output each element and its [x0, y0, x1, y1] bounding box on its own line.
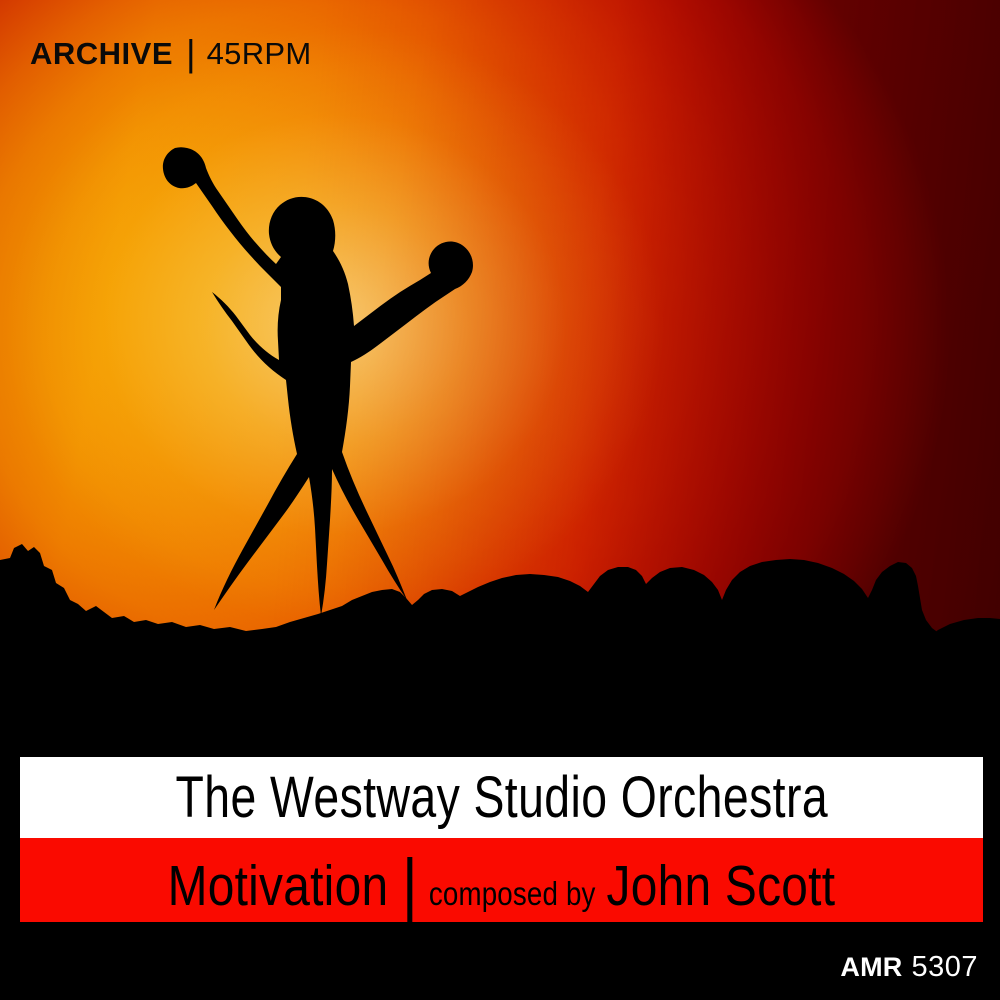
composer-name: John Scott — [607, 858, 836, 915]
track-line: Motivation | composed by John Scott — [168, 843, 836, 917]
album-cover: ARCHIVE | 45RPM The Westway Studio Orche… — [0, 0, 1000, 1000]
track-separator: | — [402, 849, 418, 923]
archive-label: ARCHIVE — [30, 38, 173, 69]
artist-name-bar: The Westway Studio Orchestra — [20, 757, 983, 838]
rpm-label: 45RPM — [207, 38, 312, 69]
track-title-bar: Motivation | composed by John Scott — [20, 838, 983, 922]
composed-by-label: composed by — [429, 877, 596, 910]
sunset-sky-gradient — [0, 0, 1000, 760]
catalog-digits: 5307 — [911, 953, 978, 982]
archive-header: ARCHIVE | 45RPM — [30, 33, 312, 70]
catalog-prefix: AMR — [840, 954, 902, 981]
catalog-number: AMR 5307 — [840, 953, 978, 982]
header-separator: | — [186, 35, 196, 72]
artist-name: The Westway Studio Orchestra — [175, 769, 827, 827]
track-title: Motivation — [168, 858, 389, 915]
